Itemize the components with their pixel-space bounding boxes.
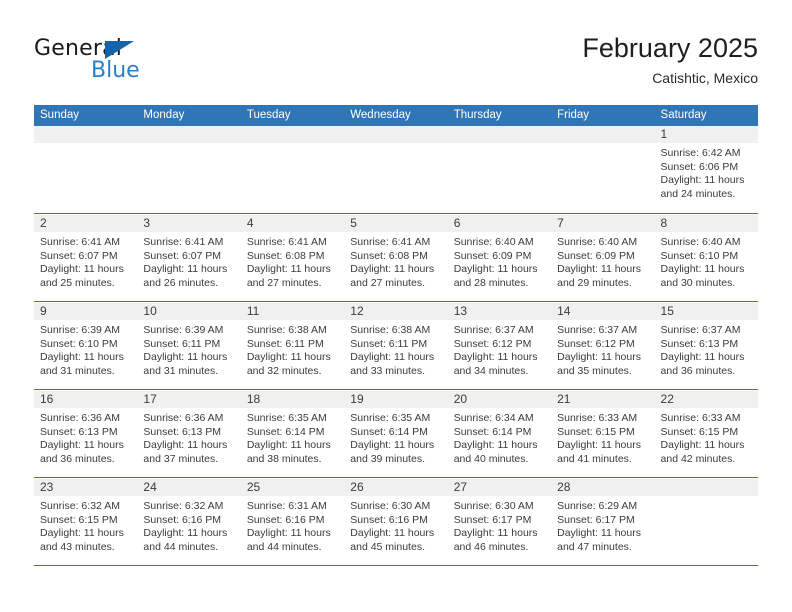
week-row: 9Sunrise: 6:39 AMSunset: 6:10 PMDaylight… bbox=[34, 302, 758, 390]
day-cell[interactable]: 23Sunrise: 6:32 AMSunset: 6:15 PMDayligh… bbox=[34, 479, 137, 565]
day-cell[interactable]: 22Sunrise: 6:33 AMSunset: 6:15 PMDayligh… bbox=[655, 391, 758, 477]
weeks-container: 1Sunrise: 6:42 AMSunset: 6:06 PMDaylight… bbox=[34, 126, 758, 566]
daylight-text: Daylight: 11 hours and 27 minutes. bbox=[350, 263, 442, 290]
sunset-text: Sunset: 6:06 PM bbox=[661, 161, 753, 175]
day-cell[interactable]: 19Sunrise: 6:35 AMSunset: 6:14 PMDayligh… bbox=[344, 391, 447, 477]
day-info: Sunrise: 6:37 AMSunset: 6:13 PMDaylight:… bbox=[655, 321, 758, 378]
day-info: Sunrise: 6:30 AMSunset: 6:16 PMDaylight:… bbox=[344, 497, 447, 554]
sunrise-text: Sunrise: 6:32 AM bbox=[143, 500, 235, 514]
logo-text-blue: Blue bbox=[91, 58, 140, 83]
day-info: Sunrise: 6:32 AMSunset: 6:16 PMDaylight:… bbox=[137, 497, 240, 554]
day-number: 12 bbox=[350, 304, 363, 319]
sunrise-text: Sunrise: 6:41 AM bbox=[40, 236, 132, 250]
day-number: 8 bbox=[661, 216, 668, 231]
sunset-text: Sunset: 6:14 PM bbox=[454, 426, 546, 440]
weekday-header-row: Sunday Monday Tuesday Wednesday Thursday… bbox=[34, 105, 758, 126]
logo-triangle-icon bbox=[105, 41, 134, 59]
day-info: Sunrise: 6:29 AMSunset: 6:17 PMDaylight:… bbox=[551, 497, 654, 554]
daylight-text: Daylight: 11 hours and 25 minutes. bbox=[40, 263, 132, 290]
page-header: General Blue February 2025 Catishtic, Me… bbox=[34, 32, 758, 94]
day-number: 24 bbox=[143, 480, 156, 495]
day-info: Sunrise: 6:42 AMSunset: 6:06 PMDaylight:… bbox=[655, 144, 758, 201]
day-number: 13 bbox=[454, 304, 467, 319]
day-cell[interactable]: 18Sunrise: 6:35 AMSunset: 6:14 PMDayligh… bbox=[241, 391, 344, 477]
day-info: Sunrise: 6:30 AMSunset: 6:17 PMDaylight:… bbox=[448, 497, 551, 554]
sunset-text: Sunset: 6:15 PM bbox=[557, 426, 649, 440]
day-number-band bbox=[137, 126, 240, 144]
sunset-text: Sunset: 6:11 PM bbox=[143, 338, 235, 352]
day-cell[interactable]: 13Sunrise: 6:37 AMSunset: 6:12 PMDayligh… bbox=[448, 303, 551, 389]
day-cell[interactable]: 20Sunrise: 6:34 AMSunset: 6:14 PMDayligh… bbox=[448, 391, 551, 477]
day-info: Sunrise: 6:36 AMSunset: 6:13 PMDaylight:… bbox=[34, 409, 137, 466]
weekday-thursday: Thursday bbox=[448, 105, 551, 126]
sunrise-text: Sunrise: 6:33 AM bbox=[557, 412, 649, 426]
day-number: 9 bbox=[40, 304, 47, 319]
day-number: 18 bbox=[247, 392, 260, 407]
day-cell-empty bbox=[551, 126, 654, 213]
daylight-text: Daylight: 11 hours and 24 minutes. bbox=[661, 174, 753, 201]
day-info: Sunrise: 6:36 AMSunset: 6:13 PMDaylight:… bbox=[137, 409, 240, 466]
daylight-text: Daylight: 11 hours and 36 minutes. bbox=[40, 439, 132, 466]
sunrise-text: Sunrise: 6:41 AM bbox=[143, 236, 235, 250]
day-number-band bbox=[344, 215, 447, 233]
sunrise-text: Sunrise: 6:39 AM bbox=[143, 324, 235, 338]
day-info: Sunrise: 6:32 AMSunset: 6:15 PMDaylight:… bbox=[34, 497, 137, 554]
sunrise-text: Sunrise: 6:38 AM bbox=[350, 324, 442, 338]
daylight-text: Daylight: 11 hours and 35 minutes. bbox=[557, 351, 649, 378]
day-number-band bbox=[34, 215, 137, 233]
day-info: Sunrise: 6:41 AMSunset: 6:08 PMDaylight:… bbox=[241, 233, 344, 290]
day-cell[interactable]: 24Sunrise: 6:32 AMSunset: 6:16 PMDayligh… bbox=[137, 479, 240, 565]
day-number-band bbox=[137, 215, 240, 233]
daylight-text: Daylight: 11 hours and 41 minutes. bbox=[557, 439, 649, 466]
day-cell[interactable]: 5Sunrise: 6:41 AMSunset: 6:08 PMDaylight… bbox=[344, 215, 447, 301]
day-info: Sunrise: 6:34 AMSunset: 6:14 PMDaylight:… bbox=[448, 409, 551, 466]
day-number: 10 bbox=[143, 304, 156, 319]
general-blue-logo[interactable]: General Blue bbox=[34, 36, 234, 92]
day-number-band bbox=[34, 126, 137, 144]
day-cell[interactable]: 17Sunrise: 6:36 AMSunset: 6:13 PMDayligh… bbox=[137, 391, 240, 477]
sunset-text: Sunset: 6:13 PM bbox=[143, 426, 235, 440]
day-info: Sunrise: 6:33 AMSunset: 6:15 PMDaylight:… bbox=[655, 409, 758, 466]
day-cell-empty bbox=[344, 126, 447, 213]
day-number: 2 bbox=[40, 216, 47, 231]
sunset-text: Sunset: 6:11 PM bbox=[350, 338, 442, 352]
day-number: 26 bbox=[350, 480, 363, 495]
day-number-band bbox=[448, 126, 551, 144]
day-number-band bbox=[655, 215, 758, 233]
sunset-text: Sunset: 6:07 PM bbox=[143, 250, 235, 264]
title-block: February 2025 Catishtic, Mexico bbox=[582, 32, 758, 88]
sunrise-text: Sunrise: 6:41 AM bbox=[247, 236, 339, 250]
daylight-text: Daylight: 11 hours and 31 minutes. bbox=[143, 351, 235, 378]
sunrise-text: Sunrise: 6:40 AM bbox=[661, 236, 753, 250]
day-number: 21 bbox=[557, 392, 570, 407]
day-info: Sunrise: 6:41 AMSunset: 6:07 PMDaylight:… bbox=[34, 233, 137, 290]
daylight-text: Daylight: 11 hours and 26 minutes. bbox=[143, 263, 235, 290]
day-number-band bbox=[655, 479, 758, 497]
day-info: Sunrise: 6:31 AMSunset: 6:16 PMDaylight:… bbox=[241, 497, 344, 554]
day-cell[interactable]: 4Sunrise: 6:41 AMSunset: 6:08 PMDaylight… bbox=[241, 215, 344, 301]
day-cell-empty bbox=[448, 126, 551, 213]
sunset-text: Sunset: 6:16 PM bbox=[143, 514, 235, 528]
day-number: 3 bbox=[143, 216, 150, 231]
weekday-monday: Monday bbox=[137, 105, 240, 126]
day-number: 5 bbox=[350, 216, 357, 231]
sunset-text: Sunset: 6:08 PM bbox=[247, 250, 339, 264]
day-cell[interactable]: 21Sunrise: 6:33 AMSunset: 6:15 PMDayligh… bbox=[551, 391, 654, 477]
day-number: 1 bbox=[661, 127, 668, 142]
sunrise-text: Sunrise: 6:35 AM bbox=[247, 412, 339, 426]
day-cell-empty bbox=[241, 126, 344, 213]
sunrise-text: Sunrise: 6:36 AM bbox=[40, 412, 132, 426]
sunset-text: Sunset: 6:15 PM bbox=[661, 426, 753, 440]
sunrise-text: Sunrise: 6:30 AM bbox=[350, 500, 442, 514]
daylight-text: Daylight: 11 hours and 31 minutes. bbox=[40, 351, 132, 378]
sunrise-text: Sunrise: 6:29 AM bbox=[557, 500, 649, 514]
week-row: 23Sunrise: 6:32 AMSunset: 6:15 PMDayligh… bbox=[34, 478, 758, 566]
day-info: Sunrise: 6:38 AMSunset: 6:11 PMDaylight:… bbox=[344, 321, 447, 378]
day-number: 11 bbox=[247, 304, 259, 319]
day-cell[interactable]: 12Sunrise: 6:38 AMSunset: 6:11 PMDayligh… bbox=[344, 303, 447, 389]
daylight-text: Daylight: 11 hours and 47 minutes. bbox=[557, 527, 649, 554]
daylight-text: Daylight: 11 hours and 28 minutes. bbox=[454, 263, 546, 290]
day-number: 19 bbox=[350, 392, 363, 407]
daylight-text: Daylight: 11 hours and 42 minutes. bbox=[661, 439, 753, 466]
day-number: 17 bbox=[143, 392, 156, 407]
daylight-text: Daylight: 11 hours and 36 minutes. bbox=[661, 351, 753, 378]
day-number-band bbox=[344, 126, 447, 144]
day-number-band bbox=[241, 126, 344, 144]
daylight-text: Daylight: 11 hours and 29 minutes. bbox=[557, 263, 649, 290]
day-number: 16 bbox=[40, 392, 53, 407]
day-number-band bbox=[655, 126, 758, 144]
day-number: 4 bbox=[247, 216, 254, 231]
day-info: Sunrise: 6:35 AMSunset: 6:14 PMDaylight:… bbox=[241, 409, 344, 466]
sunrise-text: Sunrise: 6:32 AM bbox=[40, 500, 132, 514]
sunrise-text: Sunrise: 6:36 AM bbox=[143, 412, 235, 426]
day-number: 27 bbox=[454, 480, 467, 495]
sunset-text: Sunset: 6:07 PM bbox=[40, 250, 132, 264]
calendar-grid: Sunday Monday Tuesday Wednesday Thursday… bbox=[34, 105, 758, 566]
day-cell[interactable]: 25Sunrise: 6:31 AMSunset: 6:16 PMDayligh… bbox=[241, 479, 344, 565]
day-cell[interactable]: 26Sunrise: 6:30 AMSunset: 6:16 PMDayligh… bbox=[344, 479, 447, 565]
day-cell[interactable]: 14Sunrise: 6:37 AMSunset: 6:12 PMDayligh… bbox=[551, 303, 654, 389]
day-cell[interactable]: 8Sunrise: 6:40 AMSunset: 6:10 PMDaylight… bbox=[655, 215, 758, 301]
day-number: 22 bbox=[661, 392, 674, 407]
week-row: 2Sunrise: 6:41 AMSunset: 6:07 PMDaylight… bbox=[34, 214, 758, 302]
daylight-text: Daylight: 11 hours and 44 minutes. bbox=[143, 527, 235, 554]
sunrise-text: Sunrise: 6:38 AM bbox=[247, 324, 339, 338]
day-info: Sunrise: 6:40 AMSunset: 6:10 PMDaylight:… bbox=[655, 233, 758, 290]
day-number-band bbox=[241, 215, 344, 233]
daylight-text: Daylight: 11 hours and 30 minutes. bbox=[661, 263, 753, 290]
day-cell-empty bbox=[34, 126, 137, 213]
sunrise-text: Sunrise: 6:35 AM bbox=[350, 412, 442, 426]
sunrise-text: Sunrise: 6:42 AM bbox=[661, 147, 753, 161]
sunset-text: Sunset: 6:12 PM bbox=[557, 338, 649, 352]
day-cell[interactable]: 15Sunrise: 6:37 AMSunset: 6:13 PMDayligh… bbox=[655, 303, 758, 389]
day-number: 6 bbox=[454, 216, 461, 231]
day-cell[interactable]: 11Sunrise: 6:38 AMSunset: 6:11 PMDayligh… bbox=[241, 303, 344, 389]
sunrise-text: Sunrise: 6:34 AM bbox=[454, 412, 546, 426]
day-cell[interactable]: 7Sunrise: 6:40 AMSunset: 6:09 PMDaylight… bbox=[551, 215, 654, 301]
daylight-text: Daylight: 11 hours and 44 minutes. bbox=[247, 527, 339, 554]
page-subtitle: Catishtic, Mexico bbox=[582, 68, 758, 88]
daylight-text: Daylight: 11 hours and 43 minutes. bbox=[40, 527, 132, 554]
day-cell-empty bbox=[655, 479, 758, 565]
daylight-text: Daylight: 11 hours and 32 minutes. bbox=[247, 351, 339, 378]
sunset-text: Sunset: 6:08 PM bbox=[350, 250, 442, 264]
day-cell[interactable]: 9Sunrise: 6:39 AMSunset: 6:10 PMDaylight… bbox=[34, 303, 137, 389]
daylight-text: Daylight: 11 hours and 38 minutes. bbox=[247, 439, 339, 466]
daylight-text: Daylight: 11 hours and 40 minutes. bbox=[454, 439, 546, 466]
day-info: Sunrise: 6:41 AMSunset: 6:08 PMDaylight:… bbox=[344, 233, 447, 290]
daylight-text: Daylight: 11 hours and 34 minutes. bbox=[454, 351, 546, 378]
day-cell[interactable]: 1Sunrise: 6:42 AMSunset: 6:06 PMDaylight… bbox=[655, 126, 758, 213]
daylight-text: Daylight: 11 hours and 37 minutes. bbox=[143, 439, 235, 466]
page-title: February 2025 bbox=[582, 32, 758, 64]
sunset-text: Sunset: 6:17 PM bbox=[454, 514, 546, 528]
sunrise-text: Sunrise: 6:30 AM bbox=[454, 500, 546, 514]
day-info: Sunrise: 6:35 AMSunset: 6:14 PMDaylight:… bbox=[344, 409, 447, 466]
day-number: 7 bbox=[557, 216, 564, 231]
sunrise-text: Sunrise: 6:40 AM bbox=[557, 236, 649, 250]
sunset-text: Sunset: 6:10 PM bbox=[40, 338, 132, 352]
day-number-band bbox=[551, 126, 654, 144]
daylight-text: Daylight: 11 hours and 27 minutes. bbox=[247, 263, 339, 290]
day-number: 25 bbox=[247, 480, 260, 495]
week-row: 1Sunrise: 6:42 AMSunset: 6:06 PMDaylight… bbox=[34, 126, 758, 214]
day-number: 23 bbox=[40, 480, 53, 495]
sunset-text: Sunset: 6:13 PM bbox=[40, 426, 132, 440]
day-cell[interactable]: 3Sunrise: 6:41 AMSunset: 6:07 PMDaylight… bbox=[137, 215, 240, 301]
calendar-page: General Blue February 2025 Catishtic, Me… bbox=[0, 0, 792, 612]
weekday-sunday: Sunday bbox=[34, 105, 137, 126]
sunrise-text: Sunrise: 6:39 AM bbox=[40, 324, 132, 338]
sunset-text: Sunset: 6:09 PM bbox=[557, 250, 649, 264]
day-info: Sunrise: 6:40 AMSunset: 6:09 PMDaylight:… bbox=[448, 233, 551, 290]
sunset-text: Sunset: 6:14 PM bbox=[350, 426, 442, 440]
day-info: Sunrise: 6:33 AMSunset: 6:15 PMDaylight:… bbox=[551, 409, 654, 466]
sunrise-text: Sunrise: 6:40 AM bbox=[454, 236, 546, 250]
day-info: Sunrise: 6:37 AMSunset: 6:12 PMDaylight:… bbox=[448, 321, 551, 378]
weekday-tuesday: Tuesday bbox=[241, 105, 344, 126]
sunrise-text: Sunrise: 6:37 AM bbox=[557, 324, 649, 338]
day-info: Sunrise: 6:37 AMSunset: 6:12 PMDaylight:… bbox=[551, 321, 654, 378]
day-cell[interactable]: 28Sunrise: 6:29 AMSunset: 6:17 PMDayligh… bbox=[551, 479, 654, 565]
day-number: 14 bbox=[557, 304, 570, 319]
daylight-text: Daylight: 11 hours and 39 minutes. bbox=[350, 439, 442, 466]
sunset-text: Sunset: 6:15 PM bbox=[40, 514, 132, 528]
sunset-text: Sunset: 6:17 PM bbox=[557, 514, 649, 528]
day-cell[interactable]: 16Sunrise: 6:36 AMSunset: 6:13 PMDayligh… bbox=[34, 391, 137, 477]
sunrise-text: Sunrise: 6:37 AM bbox=[454, 324, 546, 338]
weekday-wednesday: Wednesday bbox=[344, 105, 447, 126]
day-info: Sunrise: 6:39 AMSunset: 6:10 PMDaylight:… bbox=[34, 321, 137, 378]
sunset-text: Sunset: 6:16 PM bbox=[247, 514, 339, 528]
day-number-band bbox=[551, 215, 654, 233]
sunset-text: Sunset: 6:12 PM bbox=[454, 338, 546, 352]
sunset-text: Sunset: 6:10 PM bbox=[661, 250, 753, 264]
weekday-saturday: Saturday bbox=[655, 105, 758, 126]
daylight-text: Daylight: 11 hours and 33 minutes. bbox=[350, 351, 442, 378]
sunset-text: Sunset: 6:16 PM bbox=[350, 514, 442, 528]
day-number: 28 bbox=[557, 480, 570, 495]
sunset-text: Sunset: 6:14 PM bbox=[247, 426, 339, 440]
day-info: Sunrise: 6:41 AMSunset: 6:07 PMDaylight:… bbox=[137, 233, 240, 290]
sunset-text: Sunset: 6:09 PM bbox=[454, 250, 546, 264]
day-cell[interactable]: 6Sunrise: 6:40 AMSunset: 6:09 PMDaylight… bbox=[448, 215, 551, 301]
weekday-friday: Friday bbox=[551, 105, 654, 126]
day-cell[interactable]: 10Sunrise: 6:39 AMSunset: 6:11 PMDayligh… bbox=[137, 303, 240, 389]
day-cell[interactable]: 27Sunrise: 6:30 AMSunset: 6:17 PMDayligh… bbox=[448, 479, 551, 565]
day-cell-empty bbox=[137, 126, 240, 213]
sunrise-text: Sunrise: 6:31 AM bbox=[247, 500, 339, 514]
sunset-text: Sunset: 6:13 PM bbox=[661, 338, 753, 352]
daylight-text: Daylight: 11 hours and 45 minutes. bbox=[350, 527, 442, 554]
day-cell[interactable]: 2Sunrise: 6:41 AMSunset: 6:07 PMDaylight… bbox=[34, 215, 137, 301]
daylight-text: Daylight: 11 hours and 46 minutes. bbox=[454, 527, 546, 554]
day-number-band bbox=[448, 215, 551, 233]
day-number: 20 bbox=[454, 392, 467, 407]
day-number-band bbox=[34, 303, 137, 321]
day-info: Sunrise: 6:40 AMSunset: 6:09 PMDaylight:… bbox=[551, 233, 654, 290]
day-info: Sunrise: 6:39 AMSunset: 6:11 PMDaylight:… bbox=[137, 321, 240, 378]
sunrise-text: Sunrise: 6:41 AM bbox=[350, 236, 442, 250]
sunset-text: Sunset: 6:11 PM bbox=[247, 338, 339, 352]
day-info: Sunrise: 6:38 AMSunset: 6:11 PMDaylight:… bbox=[241, 321, 344, 378]
week-row: 16Sunrise: 6:36 AMSunset: 6:13 PMDayligh… bbox=[34, 390, 758, 478]
day-number: 15 bbox=[661, 304, 674, 319]
sunrise-text: Sunrise: 6:33 AM bbox=[661, 412, 753, 426]
sunrise-text: Sunrise: 6:37 AM bbox=[661, 324, 753, 338]
